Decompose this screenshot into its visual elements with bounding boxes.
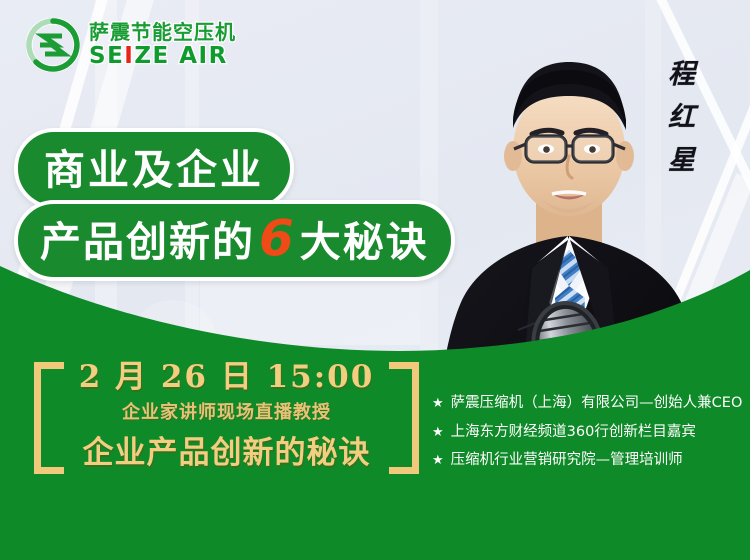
brand-en-part1: SE	[89, 43, 124, 69]
brand-en-part2: ZE AIR	[134, 43, 227, 69]
event-info-block: 2 月 26 日 15:00 企业家讲师现场直播教授 企业产品创新的秘诀	[34, 362, 419, 487]
credential-text: 上海东方财经频道360行创新栏目嘉宾	[451, 425, 696, 440]
star-icon: ★	[432, 454, 444, 467]
speaker-name-char-2: 红	[668, 95, 695, 134]
bracket-left-decoration	[34, 362, 64, 474]
event-topic: 企业产品创新的秘诀	[64, 427, 389, 472]
credential-text: 萨震压缩机（上海）有限公司—创始人兼CEO	[451, 396, 743, 411]
speaker-name-char-1: 程	[668, 52, 695, 91]
event-date-time: 2 月 26 日 15:00	[64, 360, 389, 394]
headline-line-1-text: 商业及企业	[44, 136, 264, 196]
speaker-name-char-3: 星	[668, 138, 695, 177]
speaker-name-calligraphy: 程 红 星	[668, 52, 695, 177]
bracket-right-decoration	[389, 362, 419, 474]
star-icon: ★	[432, 426, 444, 439]
headline-line-1: 商业及企业	[14, 128, 294, 209]
star-icon: ★	[432, 397, 444, 410]
list-item: ★ 上海东方财经频道360行创新栏目嘉宾	[432, 425, 742, 440]
headline-line-2: 产品创新的 6 大秘诀	[14, 200, 455, 281]
headline-number: 6	[255, 209, 300, 267]
event-subtitle: 企业家讲师现场直播教授	[64, 398, 389, 424]
poster-canvas: 萨震节能空压机 SEIZE AIR 商业及企业 产品创新的 6 大秘诀 程 红 …	[0, 0, 750, 560]
brand-en-red-letter: I	[124, 43, 134, 69]
brand-name-en: SEIZE AIR	[89, 45, 236, 68]
list-item: ★ 萨震压缩机（上海）有限公司—创始人兼CEO	[432, 396, 742, 411]
headline-line-2-suffix: 大秘诀	[300, 208, 429, 268]
headline-line-2-prefix: 产品创新的	[40, 208, 255, 268]
sz-circle-logo-icon	[26, 18, 80, 72]
credentials-list: ★ 萨震压缩机（上海）有限公司—创始人兼CEO ★ 上海东方财经频道360行创新…	[432, 396, 742, 482]
brand-logo: 萨震节能空压机 SEIZE AIR	[26, 18, 236, 72]
credential-text: 压缩机行业营销研究院—管理培训师	[451, 453, 683, 468]
brand-name-cn: 萨震节能空压机	[89, 22, 236, 42]
list-item: ★ 压缩机行业营销研究院—管理培训师	[432, 453, 742, 468]
